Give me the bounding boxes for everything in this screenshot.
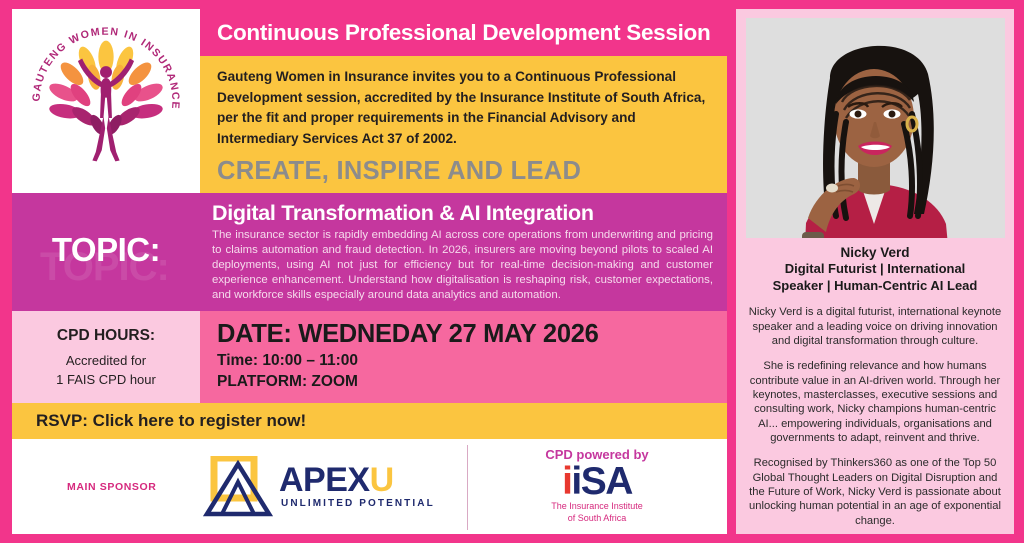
sponsor-divider — [467, 445, 468, 530]
gauteng-women-in-insurance-logo-icon: GAUTENG WOMEN IN INSURANCE — [21, 16, 191, 186]
apex-name-accent: U — [370, 461, 394, 499]
iisa-subtitle-line1: The Insurance Institute — [551, 501, 643, 512]
cpd-accredited-line: Accredited for — [66, 352, 146, 371]
event-date: DATE: WEDNEDAY 27 MAY 2026 — [217, 320, 727, 349]
topic-row: TOPIC: TOPIC: Digital Transformation & A… — [12, 193, 727, 311]
apex-tagline: UNLIMITED POTENTIAL — [281, 498, 435, 509]
rsvp-bar[interactable]: RSVP: Click here to register now! — [12, 403, 727, 439]
speaker-role-line-2: Speaker | Human-Centric AI Lead — [773, 278, 978, 295]
topic-heading: Digital Transformation & AI Integration — [212, 201, 713, 226]
cpd-hours-box: CPD HOURS: Accredited for 1 FAIS CPD hou… — [12, 311, 200, 403]
cpd-and-date-row: CPD HOURS: Accredited for 1 FAIS CPD hou… — [12, 311, 727, 403]
tagline: CREATE, INSPIRE AND LEAD — [217, 157, 710, 186]
cpd-hours-line: 1 FAIS CPD hour — [56, 371, 156, 390]
header-text-column: Continuous Professional Development Sess… — [200, 9, 727, 193]
topic-label: TOPIC: — [52, 231, 160, 269]
speaker-panel: Nicky Verd Digital Futurist | Internatio… — [736, 9, 1014, 534]
intro-paragraph: Gauteng Women in Insurance invites you t… — [217, 67, 710, 150]
apex-triangle-mark-icon — [203, 456, 273, 518]
speaker-bio-paragraph-1: Nicky Verd is a digital futurist, intern… — [746, 305, 1004, 348]
iisa-initial: i — [562, 460, 571, 503]
intro-block: Gauteng Women in Insurance invites you t… — [200, 56, 727, 193]
topic-description: The insurance sector is rapidly embeddin… — [212, 228, 713, 303]
iisa-subtitle-line2: of South Africa — [568, 513, 627, 524]
event-platform: PLATFORM: ZOOM — [217, 373, 727, 391]
main-sponsor-label: MAIN SPONSOR — [67, 481, 197, 493]
session-title-bar: Continuous Professional Development Sess… — [200, 9, 727, 56]
main-sponsor-block: MAIN SPONSOR APEXU UNLIMITED POTENTIAL — [12, 439, 467, 534]
speaker-name: Nicky Verd — [840, 245, 909, 260]
speaker-bio-paragraph-3: Recognised by Thinkers360 as one of the … — [746, 456, 1004, 528]
speaker-role-line-1: Digital Futurist | International — [785, 261, 966, 278]
cpd-provider-block: CPD powered by iiSA The Insurance Instit… — [467, 439, 727, 534]
organisation-logo-box: GAUTENG WOMEN IN INSURANCE — [12, 9, 200, 193]
speaker-portrait-image — [746, 18, 1005, 238]
topic-body: Digital Transformation & AI Integration … — [200, 193, 727, 311]
left-content-column: GAUTENG WOMEN IN INSURANCE Continuous Pr… — [12, 9, 727, 534]
iisa-wordmark: iiSA — [562, 463, 632, 500]
apex-logo: APEXU UNLIMITED POTENTIAL — [203, 456, 435, 518]
cpd-hours-heading: CPD HOURS: — [57, 327, 155, 345]
event-flyer: GAUTENG WOMEN IN INSURANCE Continuous Pr… — [0, 0, 1024, 543]
rsvp-link[interactable]: RSVP: Click here to register now! — [36, 411, 306, 431]
header-row: GAUTENG WOMEN IN INSURANCE Continuous Pr… — [12, 9, 727, 193]
speaker-bio-paragraph-2: She is redefining relevance and how huma… — [746, 359, 1004, 445]
event-time: Time: 10:00 – 11:00 — [217, 352, 727, 370]
page-title: Continuous Professional Development Sess… — [217, 20, 710, 46]
apex-name: APEX — [279, 461, 370, 499]
sponsor-row: MAIN SPONSOR APEXU UNLIMITED POTENTIAL — [12, 439, 727, 534]
apex-wordmark: APEXU UNLIMITED POTENTIAL — [279, 464, 435, 509]
topic-label-box: TOPIC: TOPIC: — [12, 193, 200, 311]
speaker-portrait — [746, 18, 1005, 238]
iisa-rest: iSA — [571, 460, 632, 503]
event-details-box: DATE: WEDNEDAY 27 MAY 2026 Time: 10:00 –… — [200, 311, 727, 403]
